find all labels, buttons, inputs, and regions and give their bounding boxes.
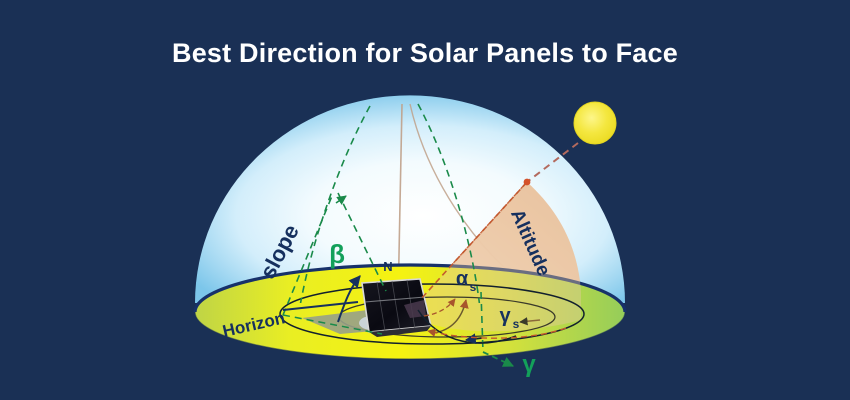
label-gamma-s-main: γ [499,305,511,327]
solar-panel [362,279,431,337]
sun-ray-contact-point [524,179,531,186]
label-alpha-s-main: α [456,268,469,290]
label-gamma: γ [522,351,536,378]
label-beta: β [329,239,345,269]
label-north: N [383,259,392,274]
sun-disc [574,102,616,144]
label-gamma-s-sub: s [513,317,520,331]
solar-orientation-diagram: slope β N Altitude α s γ s γ Horizon [0,0,850,400]
page-root: Best Direction for Solar Panels to Face [0,0,850,400]
label-alpha-s-sub: s [470,280,477,294]
